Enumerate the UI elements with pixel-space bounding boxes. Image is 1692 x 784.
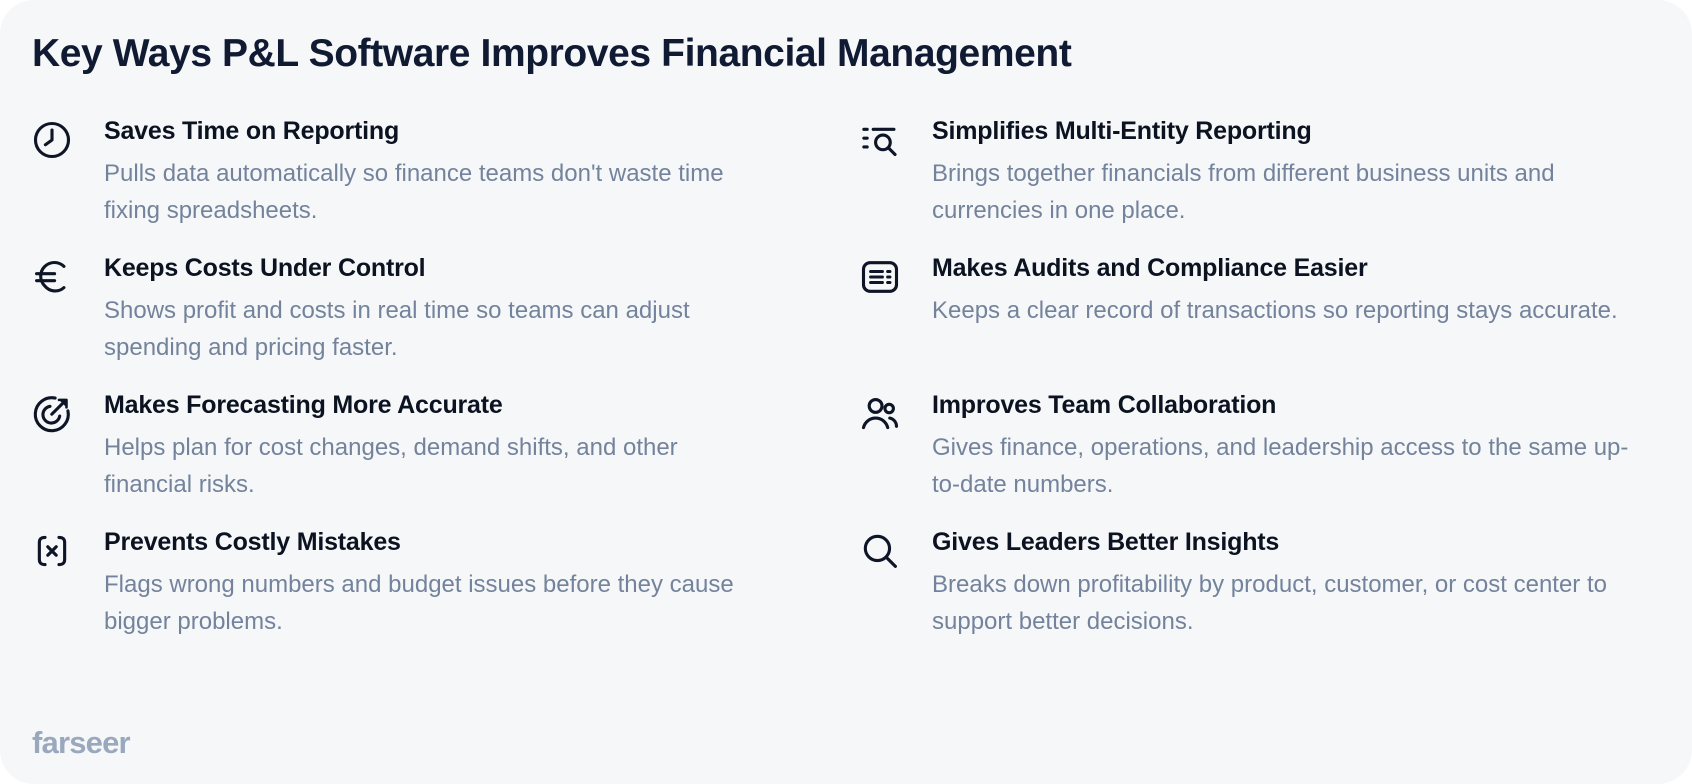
feature-title: Saves Time on Reporting — [104, 116, 820, 146]
page-title: Key Ways P&L Software Improves Financial… — [30, 30, 1662, 78]
feature-title: Prevents Costly Mistakes — [104, 527, 820, 557]
feature-title: Keeps Costs Under Control — [104, 253, 820, 283]
feature-description: Flags wrong numbers and budget issues be… — [104, 566, 764, 640]
feature-description: Keeps a clear record of transactions so … — [932, 292, 1632, 329]
feature-item: Gives Leaders Better Insights Breaks dow… — [858, 527, 1662, 664]
feature-text: Improves Team Collaboration Gives financ… — [914, 390, 1662, 503]
list-search-icon — [858, 116, 914, 162]
feature-text: Prevents Costly Mistakes Flags wrong num… — [86, 527, 820, 640]
feature-item: Improves Team Collaboration Gives financ… — [858, 390, 1662, 527]
feature-title: Improves Team Collaboration — [932, 390, 1662, 420]
feature-item: Makes Audits and Compliance Easier Keeps… — [858, 253, 1662, 390]
feature-title: Simplifies Multi-Entity Reporting — [932, 116, 1662, 146]
braces-x-icon — [30, 527, 86, 573]
feature-text: Keeps Costs Under Control Shows profit a… — [86, 253, 820, 366]
search-icon — [858, 527, 914, 573]
feature-description: Breaks down profitability by product, cu… — [932, 566, 1632, 640]
feature-item: Saves Time on Reporting Pulls data autom… — [30, 116, 820, 253]
feature-title: Makes Audits and Compliance Easier — [932, 253, 1662, 283]
feature-column-left: Saves Time on Reporting Pulls data autom… — [30, 116, 820, 664]
feature-grid: Saves Time on Reporting Pulls data autom… — [30, 116, 1662, 664]
feature-title: Makes Forecasting More Accurate — [104, 390, 820, 420]
euro-currency-icon — [30, 253, 86, 299]
feature-text: Gives Leaders Better Insights Breaks dow… — [914, 527, 1662, 640]
feature-description: Brings together financials from differen… — [932, 155, 1632, 229]
feature-column-right: Simplifies Multi-Entity Reporting Brings… — [858, 116, 1662, 664]
feature-text: Makes Audits and Compliance Easier Keeps… — [914, 253, 1662, 329]
feature-text: Saves Time on Reporting Pulls data autom… — [86, 116, 820, 229]
clock-icon — [30, 116, 86, 162]
feature-text: Simplifies Multi-Entity Reporting Brings… — [914, 116, 1662, 229]
feature-text: Makes Forecasting More Accurate Helps pl… — [86, 390, 820, 503]
feature-item: Prevents Costly Mistakes Flags wrong num… — [30, 527, 820, 664]
feature-item: Simplifies Multi-Entity Reporting Brings… — [858, 116, 1662, 253]
feature-description: Shows profit and costs in real time so t… — [104, 292, 764, 366]
brand-logo: farseer — [32, 724, 130, 762]
feature-item: Keeps Costs Under Control Shows profit a… — [30, 253, 820, 390]
feature-item: Makes Forecasting More Accurate Helps pl… — [30, 390, 820, 527]
users-icon — [858, 390, 914, 436]
target-arrow-icon — [30, 390, 86, 436]
feature-description: Gives finance, operations, and leadershi… — [932, 429, 1632, 503]
feature-description: Helps plan for cost changes, demand shif… — [104, 429, 764, 503]
infographic-card: Key Ways P&L Software Improves Financial… — [0, 0, 1692, 784]
document-list-icon — [858, 253, 914, 299]
feature-description: Pulls data automatically so finance team… — [104, 155, 764, 229]
feature-title: Gives Leaders Better Insights — [932, 527, 1662, 557]
